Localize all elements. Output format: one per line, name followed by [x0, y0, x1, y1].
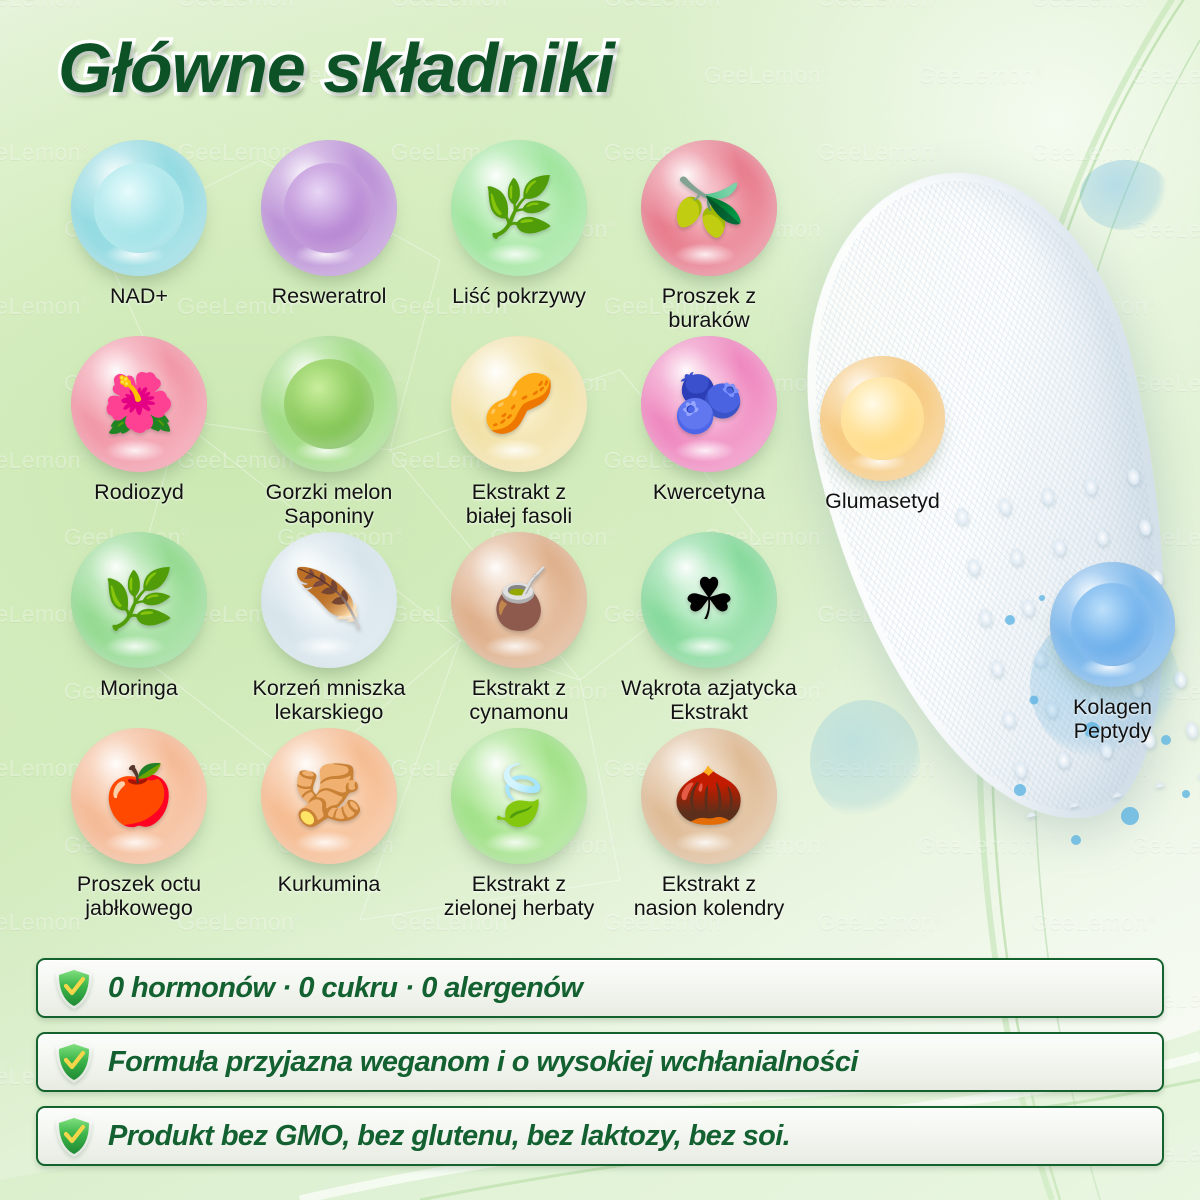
bubble-icon [261, 336, 397, 472]
ingredient-item: 🌿Liść pokrzywy [424, 140, 614, 336]
registered-mark-icon: ® [1148, 142, 1157, 154]
brand-watermark: GeeLemon® [1087, 216, 1200, 243]
ingredient-label: Kurkumina [278, 872, 381, 896]
beet-icon: 🫒 [641, 140, 777, 276]
seeds-icon: 🌰 [641, 728, 777, 864]
brand-watermark: GeeLemon® [987, 0, 1200, 12]
brand-watermark-text: GeeLemon [917, 678, 1034, 704]
registered-mark-icon: ® [1148, 912, 1157, 924]
brand-watermark-text: GeeLemon [1031, 0, 1148, 11]
ingredient-grid: NAD+Resweratrol🌿Liść pokrzywy🫒Proszek z … [44, 140, 804, 924]
brand-watermark-text: GeeLemon [1031, 293, 1148, 319]
ingredient-label: Resweratrol [272, 284, 387, 308]
flower-icon: 🌺 [71, 336, 207, 472]
bubble-icon [261, 140, 397, 276]
brand-watermark-text: GeeLemon [704, 62, 821, 88]
ingredient-label: Moringa [100, 676, 178, 700]
claim-bar: Produkt bez GMO, bez glutenu, bez laktoz… [36, 1106, 1164, 1166]
brand-watermark: GeeLemon® [133, 0, 346, 12]
ingredient-item: 🍃Ekstrakt zzielonej herbaty [424, 728, 614, 924]
bubble-inner-liquid [841, 377, 924, 460]
ingredient-item: 🫒Proszek z buraków [614, 140, 804, 336]
registered-mark-icon: ® [1034, 219, 1043, 231]
brand-watermark: GeeLemon® [773, 139, 986, 166]
claim-text: Produkt bez GMO, bez glutenu, bez laktoz… [108, 1120, 790, 1153]
ingredient-label: Gorzki melonSaponiny [266, 480, 393, 528]
brand-watermark-text: GeeLemon [917, 62, 1034, 88]
brand-watermark-text: GeeLemon [1031, 755, 1148, 781]
claim-text: 0 hormonów · 0 cukru · 0 alergenów [108, 972, 582, 1005]
ingredient-label: Glumasetyd [825, 489, 940, 513]
leaf-icon: 🌿 [71, 532, 207, 668]
ingredient-label: Proszek octujabłkowego [77, 872, 201, 920]
shield-check-icon [54, 1040, 94, 1084]
ingredient-label: Proszek z buraków [619, 284, 799, 332]
shield-check-icon [54, 1114, 94, 1158]
registered-mark-icon: ® [934, 604, 943, 616]
cinnamon-icon-glyph: 🧉 [451, 532, 587, 668]
brand-watermark-text: GeeLemon [817, 601, 934, 627]
brand-watermark-text: GeeLemon [917, 832, 1034, 858]
brand-watermark: GeeLemon® [773, 909, 986, 936]
brand-watermark-text: GeeLemon [177, 0, 294, 11]
page-title: Główne składniki [58, 28, 614, 108]
ingredient-item-kolagen-peptydy: KolagenPeptydy [1050, 562, 1175, 743]
beans-icon: 🥜 [451, 336, 587, 472]
ingredient-label: Ekstrakt znasion kolendry [634, 872, 785, 920]
brand-watermark: GeeLemon® [873, 524, 1086, 551]
brand-watermark: GeeLemon® [773, 601, 986, 628]
ingredient-item: ☘Wąkrota azjatyckaEkstrakt [614, 532, 804, 728]
blue-bubble-icon [1050, 562, 1175, 687]
ingredient-label: KolagenPeptydy [1073, 695, 1152, 743]
ingredient-item: NAD+ [44, 140, 234, 336]
brand-watermark: GeeLemon® [987, 447, 1200, 474]
ingredient-label: Ekstrakt zzielonej herbaty [444, 872, 595, 920]
brand-watermark: GeeLemon® [773, 0, 986, 12]
ingredient-item: 🫐Kwercetyna [614, 336, 804, 532]
claims-list: 0 hormonów · 0 cukru · 0 alergenówFormuł… [36, 958, 1164, 1180]
brand-watermark-text: GeeLemon [917, 216, 1034, 242]
registered-mark-icon: ® [821, 65, 830, 77]
ingredient-item: Gorzki melonSaponiny [234, 336, 424, 532]
registered-mark-icon: ® [821, 219, 830, 231]
dandelion-icon-glyph: 🪶 [261, 532, 397, 668]
registered-mark-icon: ® [821, 835, 830, 847]
registered-mark-icon: ® [821, 527, 830, 539]
apple-icon-glyph: 🍎 [71, 728, 207, 864]
brand-watermark-text: GeeLemon [1131, 832, 1200, 858]
bubble-inner-liquid [284, 163, 374, 253]
brand-watermark-text: GeeLemon [1131, 370, 1200, 396]
registered-mark-icon: ® [821, 681, 830, 693]
bubble-inner-liquid [1071, 583, 1154, 666]
registered-mark-icon: ® [1148, 758, 1157, 770]
registered-mark-icon: ® [1034, 835, 1043, 847]
brand-watermark-text: GeeLemon [604, 0, 721, 11]
brand-watermark: GeeLemon® [347, 0, 560, 12]
brand-watermark-text: GeeLemon [917, 524, 1034, 550]
ingredient-label: Ekstrakt zbiałej fasoli [466, 480, 572, 528]
brand-watermark-text: GeeLemon [391, 0, 508, 11]
registered-mark-icon: ® [934, 142, 943, 154]
brand-watermark: GeeLemon® [773, 755, 986, 782]
brand-watermark: GeeLemon® [1087, 370, 1200, 397]
seeds-icon-glyph: 🌰 [641, 728, 777, 864]
berry-icon: 🫐 [641, 336, 777, 472]
leaf-icon: 🌿 [451, 140, 587, 276]
bubble-inner-liquid [284, 359, 374, 449]
ingredient-item: 🍎Proszek octujabłkowego [44, 728, 234, 924]
herb-icon: ☘ [641, 532, 777, 668]
bubble-icon [71, 140, 207, 276]
registered-mark-icon: ® [1034, 373, 1043, 385]
berry-icon-glyph: 🫐 [641, 336, 777, 472]
beet-icon-glyph: 🫒 [641, 140, 777, 276]
brand-watermark-text: GeeLemon [817, 139, 934, 165]
claim-bar: 0 hormonów · 0 cukru · 0 alergenów [36, 958, 1164, 1018]
brand-watermark: GeeLemon® [1087, 524, 1200, 551]
brand-watermark: GeeLemon® [0, 0, 133, 12]
brand-watermark-text: GeeLemon [817, 0, 934, 11]
brand-watermark-text: GeeLemon [817, 755, 934, 781]
brand-watermark: GeeLemon® [873, 832, 1086, 859]
ingredient-label: Korzeń mniszkalekarskiego [253, 676, 406, 724]
claim-text: Formuła przyjazna weganom i o wysokiej w… [108, 1046, 858, 1079]
turmeric-icon: 🫚 [261, 728, 397, 864]
brand-watermark: GeeLemon® [873, 216, 1086, 243]
ingredient-label: NAD+ [110, 284, 168, 308]
ingredient-label: Rodiozyd [94, 480, 184, 504]
registered-mark-icon: ® [1148, 296, 1157, 308]
brand-watermark: GeeLemon® [1087, 62, 1200, 89]
registered-mark-icon: ® [934, 296, 943, 308]
ingredient-item: 🧉Ekstrakt zcynamonu [424, 532, 614, 728]
ingredient-item: 🪶Korzeń mniszkalekarskiego [234, 532, 424, 728]
tea-icon-glyph: 🍃 [451, 728, 587, 864]
ingredient-item-glumasetyd: Glumasetyd [820, 356, 945, 513]
herb-icon-glyph: ☘ [641, 532, 777, 668]
registered-mark-icon: ® [1034, 65, 1043, 77]
brand-watermark: GeeLemon® [773, 293, 986, 320]
brand-watermark-text: GeeLemon [817, 909, 934, 935]
ingredient-label: Liść pokrzywy [452, 284, 586, 308]
claim-bar: Formuła przyjazna weganom i o wysokiej w… [36, 1032, 1164, 1092]
apple-icon: 🍎 [71, 728, 207, 864]
brand-watermark: GeeLemon® [987, 139, 1200, 166]
ingredient-label: Wąkrota azjatyckaEkstrakt [621, 676, 797, 724]
brand-watermark: GeeLemon® [987, 909, 1200, 936]
brand-watermark: GeeLemon® [987, 755, 1200, 782]
registered-mark-icon: ® [934, 758, 943, 770]
brand-watermark-text: GeeLemon [1131, 216, 1200, 242]
glow-drop-icon [820, 356, 945, 481]
brand-watermark: GeeLemon® [1087, 832, 1200, 859]
brand-watermark-text: GeeLemon [0, 0, 81, 11]
beans-icon-glyph: 🥜 [451, 336, 587, 472]
shield-check-icon [54, 966, 94, 1010]
ingredient-item: 🥜Ekstrakt zbiałej fasoli [424, 336, 614, 532]
ingredient-item: 🌺Rodiozyd [44, 336, 234, 532]
ingredient-label: Ekstrakt zcynamonu [469, 676, 568, 724]
brand-watermark-text: GeeLemon [1031, 447, 1148, 473]
tea-icon: 🍃 [451, 728, 587, 864]
dandelion-icon: 🪶 [261, 532, 397, 668]
ingredient-item: 🌰Ekstrakt znasion kolendry [614, 728, 804, 924]
flower-icon-glyph: 🌺 [71, 336, 207, 472]
leaf-icon-glyph: 🌿 [71, 532, 207, 668]
bubble-inner-liquid [94, 163, 184, 253]
brand-watermark-text: GeeLemon [817, 293, 934, 319]
registered-mark-icon: ® [934, 912, 943, 924]
brand-watermark: GeeLemon® [987, 293, 1200, 320]
registered-mark-icon: ® [1034, 681, 1043, 693]
ingredient-item: Resweratrol [234, 140, 424, 336]
leaf-icon-glyph: 🌿 [451, 140, 587, 276]
brand-watermark-text: GeeLemon [1131, 524, 1200, 550]
brand-watermark-text: GeeLemon [1031, 909, 1148, 935]
brand-watermark: GeeLemon® [660, 62, 873, 89]
registered-mark-icon: ® [1148, 450, 1157, 462]
brand-watermark: GeeLemon® [873, 62, 1086, 89]
cinnamon-icon: 🧉 [451, 532, 587, 668]
brand-watermark-text: GeeLemon [1131, 62, 1200, 88]
registered-mark-icon: ® [1034, 527, 1043, 539]
brand-watermark: GeeLemon® [560, 0, 773, 12]
ingredient-item: 🫚Kurkumina [234, 728, 424, 924]
brand-watermark-text: GeeLemon [1031, 139, 1148, 165]
ingredient-item: 🌿Moringa [44, 532, 234, 728]
ingredient-label: Kwercetyna [653, 480, 765, 504]
turmeric-icon-glyph: 🫚 [261, 728, 397, 864]
